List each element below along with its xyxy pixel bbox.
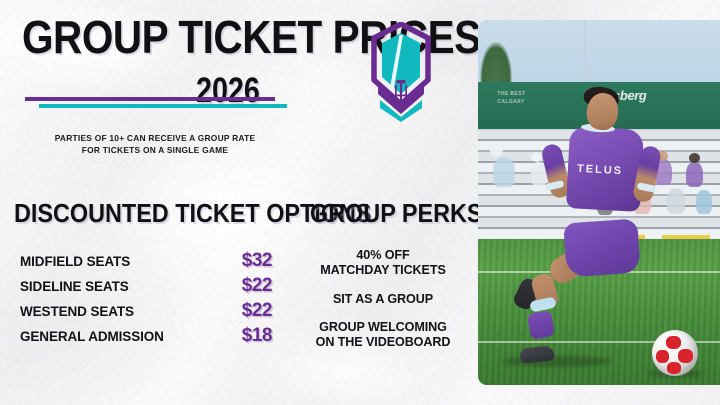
subhead-line-2: FOR TICKETS ON A SINGLE GAME (30, 144, 280, 156)
poster-canvas: GROUP TICKET PRICES 2026 (0, 0, 720, 405)
table-row: GENERAL ADMISSION $18 (20, 325, 272, 350)
list-item: 40% OFF MATCHDAY TICKETS (288, 248, 478, 279)
perk-line-2: ON THE VIDEOBOARD (288, 335, 478, 350)
headline-block: GROUP TICKET PRICES (22, 16, 372, 58)
ticket-option-price: $32 (242, 250, 272, 272)
list-item: SIT AS A GROUP (288, 292, 478, 307)
ticket-options-list: MIDFIELD SEATS $32 SIDELINE SEATS $22 WE… (20, 250, 272, 350)
ticket-option-price: $18 (242, 325, 272, 347)
pacific-fc-crest-icon (370, 22, 432, 122)
year-label: 2026 (196, 73, 260, 108)
perk-line-1: 40% OFF (288, 248, 478, 263)
page-title: GROUP TICKET PRICES (22, 16, 330, 58)
ticket-option-label: SIDELINE SEATS (20, 279, 129, 294)
table-row: SIDELINE SEATS $22 (20, 275, 272, 300)
player-shadow (502, 356, 612, 367)
table-row: WESTEND SEATS $22 (20, 300, 272, 325)
ticket-option-price: $22 (242, 300, 272, 322)
player-photo: Calsberg THE BESTCALGARY (478, 20, 720, 385)
group-perks-heading: GROUP PERKS (310, 200, 483, 226)
subhead-line-1: PARTIES OF 10+ CAN RECEIVE A GROUP RATE (30, 132, 280, 144)
ticket-option-label: WESTEND SEATS (20, 304, 134, 319)
subhead-text: PARTIES OF 10+ CAN RECEIVE A GROUP RATE … (30, 132, 280, 156)
perk-line-2: MATCHDAY TICKETS (288, 263, 478, 278)
perk-line-1: SIT AS A GROUP (288, 292, 478, 307)
ticket-option-label: MIDFIELD SEATS (20, 254, 130, 269)
ticket-option-label: GENERAL ADMISSION (20, 329, 164, 344)
player-shorts (563, 218, 641, 277)
photo-player: TELUS (478, 20, 720, 385)
player-sock (527, 310, 555, 340)
jersey-sponsor-text: TELUS (577, 163, 624, 177)
list-item: GROUP WELCOMING ON THE VIDEOBOARD (288, 320, 478, 351)
table-row: MIDFIELD SEATS $32 (20, 250, 272, 275)
divider-purple (25, 97, 275, 101)
player-boot (520, 345, 555, 363)
group-perks-list: 40% OFF MATCHDAY TICKETS SIT AS A GROUP … (288, 248, 478, 351)
perk-line-1: GROUP WELCOMING (288, 320, 478, 335)
divider-teal (39, 104, 287, 108)
ticket-option-price: $22 (242, 275, 272, 297)
